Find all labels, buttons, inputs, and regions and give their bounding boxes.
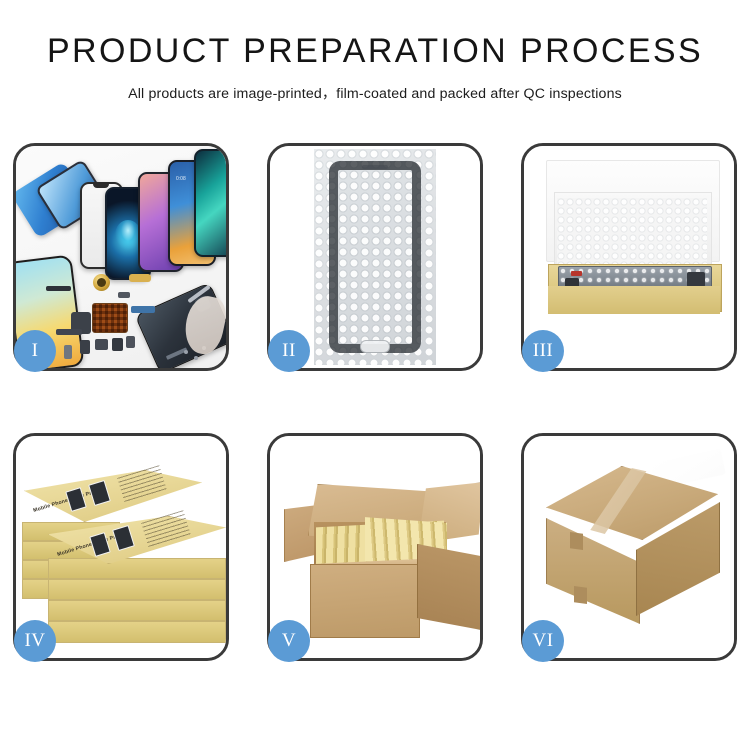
carton-flap-tab xyxy=(570,532,583,550)
step-badge-2: II xyxy=(268,330,310,372)
box-spec-lines xyxy=(141,510,191,548)
earpiece-slot xyxy=(362,165,388,169)
step-badge-1: I xyxy=(14,330,56,372)
screw-part xyxy=(184,350,188,354)
step-panel-1: 0:08 xyxy=(13,143,229,371)
phone-screen-in-wrap xyxy=(329,161,421,353)
flex-cable-part xyxy=(56,329,82,335)
page-title: PRODUCT PREPARATION PROCESS xyxy=(0,34,750,70)
step-panel-3: III xyxy=(521,143,737,371)
box-stack: Mobile Phone Spare Parts Mobile Phone Sp… xyxy=(22,458,226,648)
step-badge-5: V xyxy=(268,620,310,662)
page-subtitle: All products are image-printed，film-coat… xyxy=(0,83,750,103)
header: PRODUCT PREPARATION PROCESS All products… xyxy=(0,0,750,103)
small-part xyxy=(95,339,108,350)
small-part xyxy=(118,292,130,298)
step-badge-6: VI xyxy=(522,620,564,662)
home-button xyxy=(360,340,390,353)
flex-cable-part xyxy=(131,306,155,313)
carton-front-face xyxy=(310,564,420,638)
step-panel-4: Mobile Phone Spare Parts Mobile Phone Sp… xyxy=(13,433,229,661)
connector-part xyxy=(129,274,151,282)
stacked-box xyxy=(48,621,226,643)
small-part xyxy=(64,345,72,359)
step-panel-5: V xyxy=(267,433,483,661)
kraft-box-front xyxy=(548,286,720,314)
bubble-wrapped-screen xyxy=(314,149,436,365)
step-badge-3: III xyxy=(522,330,564,372)
small-part xyxy=(126,336,135,348)
speaker-part xyxy=(93,274,110,291)
step-panel-6: VI xyxy=(521,433,737,661)
step-panel-2: II xyxy=(267,143,483,371)
small-part xyxy=(80,340,90,354)
steps-grid: 0:08 xyxy=(13,143,737,688)
phone-screen-teal xyxy=(194,149,226,257)
box-spec-lines xyxy=(117,465,167,503)
speaker-mesh-part xyxy=(46,286,71,291)
foam-padding xyxy=(557,198,707,266)
small-part xyxy=(112,338,123,351)
carton-side-face xyxy=(417,544,480,630)
product-preparation-infographic: PRODUCT PREPARATION PROCESS All products… xyxy=(0,0,750,750)
step-badge-4: IV xyxy=(14,620,56,662)
stacked-box xyxy=(48,558,226,579)
chip-array-part xyxy=(92,303,128,333)
stacked-box xyxy=(48,600,226,621)
carton-flap-tab xyxy=(574,586,587,604)
screw-part xyxy=(194,356,198,360)
stacked-box xyxy=(48,579,226,600)
